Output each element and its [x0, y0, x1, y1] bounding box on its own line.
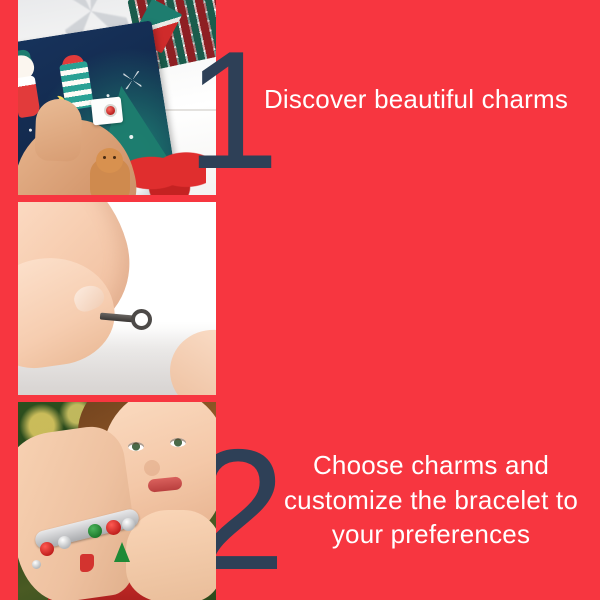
left-eye — [128, 442, 144, 451]
bracelet-charm-silver-bead — [122, 518, 135, 531]
snowflake-illustration — [123, 71, 141, 89]
step-row-1: 1 Discover beautiful charms — [0, 0, 600, 195]
bracelet-charm-stocking — [80, 554, 94, 572]
finger — [34, 98, 82, 162]
caption-line: Discover beautiful charms — [240, 82, 592, 117]
step-3-photo — [18, 402, 216, 600]
step-1-caption: Discover beautiful charms — [240, 82, 592, 117]
bracelet-charm-green-bead — [88, 524, 102, 538]
step-row-3: 3 Enjoy your beautiful bracelet — [0, 402, 600, 600]
nose — [144, 460, 160, 476]
promo-steps-graphic: 1 Discover beautiful charms 2 Choose cha… — [0, 0, 600, 600]
gingerbread-eye — [113, 156, 116, 159]
bracelet-charm-red-bead — [40, 542, 54, 556]
right-eye — [170, 438, 186, 447]
bracelet-charm-tree — [114, 542, 130, 562]
jump-ring-closeup-scene — [18, 202, 216, 395]
gingerbread-head — [96, 148, 123, 173]
step-row-2: 2 Choose charms and customize the bracel… — [0, 202, 600, 395]
sparkle-dot — [29, 128, 32, 131]
bracelet-charm-red-bead — [106, 520, 121, 535]
hand — [126, 510, 216, 600]
step-2-photo — [18, 202, 216, 395]
jump-ring — [131, 309, 152, 330]
bracelet-charm-silver-bead — [58, 536, 71, 549]
gingerbread-eye — [103, 156, 106, 159]
girl-with-bracelet-scene — [18, 402, 216, 600]
bracelet-charm-dangle — [32, 560, 41, 569]
